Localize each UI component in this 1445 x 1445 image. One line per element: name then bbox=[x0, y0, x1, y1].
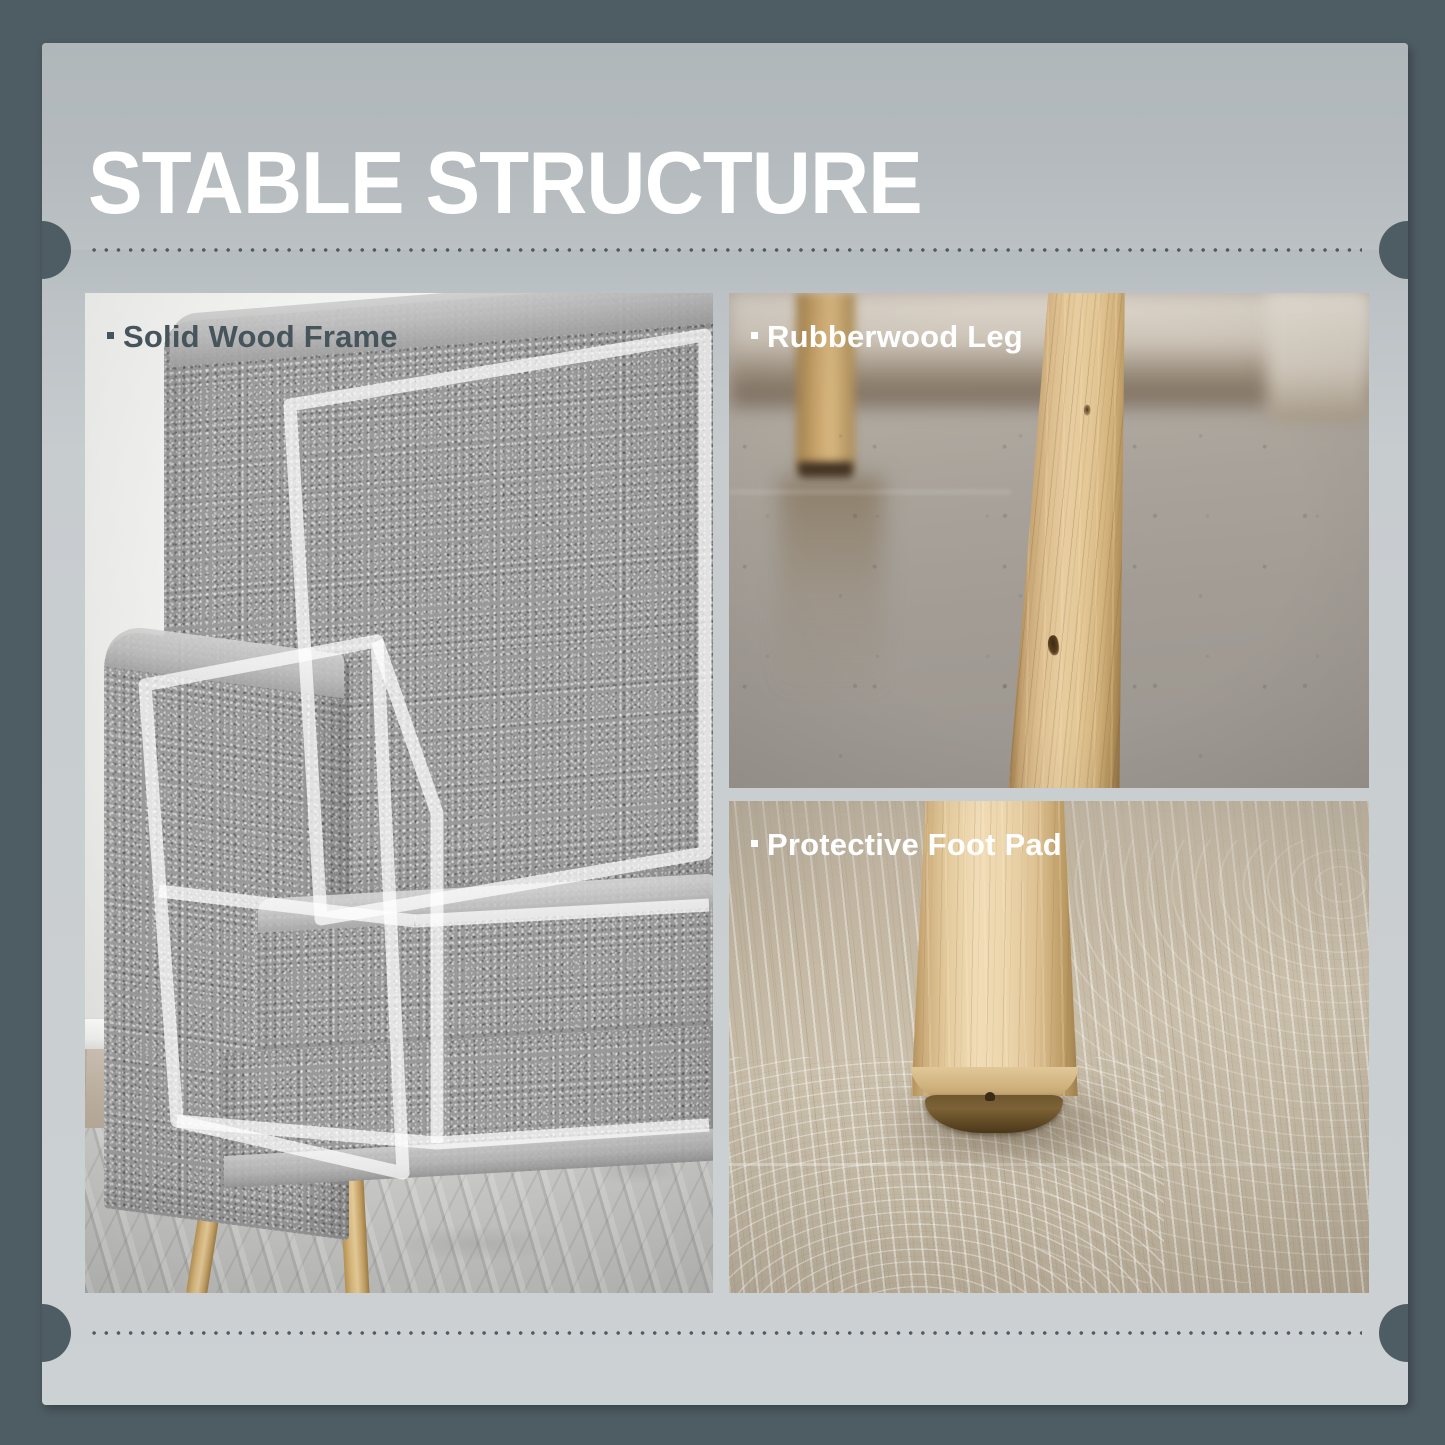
label-solid-wood-frame: Solid Wood Frame bbox=[107, 319, 398, 355]
foot-pad-notch bbox=[985, 1092, 995, 1101]
ticket-notch-bottom-right bbox=[1379, 1304, 1408, 1362]
label-text: Protective Foot Pad bbox=[767, 827, 1062, 863]
perforation-line-bottom bbox=[88, 1331, 1362, 1335]
label-protective-foot-pad: Protective Foot Pad bbox=[751, 827, 1062, 863]
panel-protective-foot-pad[interactable]: Protective Foot Pad bbox=[729, 801, 1369, 1293]
perforation-line-top bbox=[88, 248, 1362, 252]
ticket-card: STABLE STRUCTURE bbox=[42, 43, 1408, 1405]
label-text: Solid Wood Frame bbox=[123, 319, 398, 355]
ticket-notch-bottom-left bbox=[42, 1304, 71, 1362]
label-text: Rubberwood Leg bbox=[767, 319, 1023, 355]
bullet-icon bbox=[751, 332, 758, 339]
label-rubberwood-leg: Rubberwood Leg bbox=[751, 319, 1023, 355]
infographic-canvas: STABLE STRUCTURE bbox=[0, 0, 1445, 1445]
bullet-icon bbox=[107, 332, 114, 339]
rubberwood-leg-photo bbox=[729, 293, 1369, 788]
panel-solid-wood-frame[interactable]: Solid Wood Frame bbox=[85, 293, 713, 1293]
blurred-right-wall bbox=[1267, 293, 1369, 422]
armchair-photo bbox=[85, 293, 713, 1293]
bullet-icon bbox=[751, 840, 758, 847]
photo-grid: Solid Wood Frame bbox=[85, 293, 1367, 1293]
foot-pad-photo bbox=[729, 801, 1369, 1293]
page-title: STABLE STRUCTURE bbox=[88, 139, 922, 227]
panel-rubberwood-leg[interactable]: Rubberwood Leg bbox=[729, 293, 1369, 788]
